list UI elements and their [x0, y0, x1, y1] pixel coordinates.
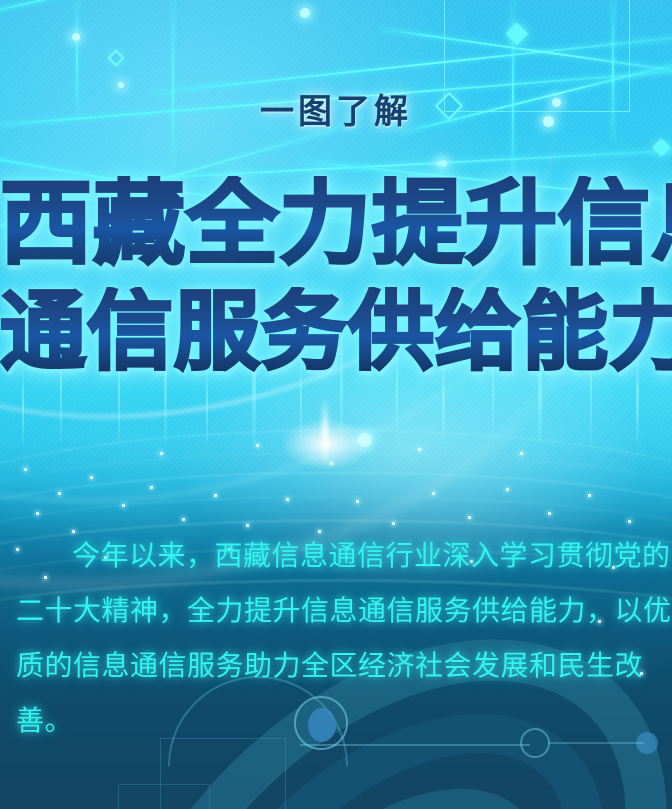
bottom-square-outline-2: [118, 784, 210, 809]
particle: [24, 468, 27, 471]
particle: [150, 486, 153, 489]
particle: [432, 492, 435, 495]
particle: [628, 520, 631, 523]
particle: [182, 518, 185, 521]
particle: [36, 512, 39, 515]
particle: [418, 448, 421, 451]
body-line-4: 善。: [16, 693, 672, 748]
body-line-3: 质的信息通信服务助力全区经济社会发展和民生改: [16, 638, 672, 693]
kicker-text: 一图了解: [0, 84, 672, 133]
particle: [256, 444, 259, 447]
body-paragraph: 今年以来，西藏信息通信行业深入学习贯彻党的 二十大精神，全力提升信息通信服务供给…: [16, 528, 672, 748]
glow-dot-6: [437, 161, 442, 166]
glow-dot-1: [72, 33, 80, 41]
glow-dot-7: [300, 8, 310, 18]
particle: [356, 500, 359, 503]
body-line-1: 今年以来，西藏信息通信行业深入学习贯彻党的: [16, 528, 672, 583]
headline-line-2: 通信服务供给能力: [0, 287, 672, 377]
particle: [214, 494, 217, 497]
particle: [246, 524, 249, 527]
particle: [90, 476, 93, 479]
particle: [330, 462, 333, 465]
particle: [58, 492, 61, 495]
infographic-poster: 一图了解 西藏全力提升信息 通信服务供给能力 今年以来，西藏信息通信行业深入学习…: [0, 0, 672, 809]
particle: [506, 488, 509, 491]
particle: [520, 452, 523, 455]
particle: [122, 504, 125, 507]
body-line-2: 二十大精神，全力提升信息通信服务供给能力，以优: [16, 583, 672, 638]
particle: [392, 522, 395, 525]
particle: [548, 512, 551, 515]
particle: [588, 494, 591, 497]
headline-line-1: 西藏全力提升信息: [0, 176, 672, 272]
particle: [468, 516, 471, 519]
particle: [286, 498, 289, 501]
particle: [160, 452, 163, 455]
